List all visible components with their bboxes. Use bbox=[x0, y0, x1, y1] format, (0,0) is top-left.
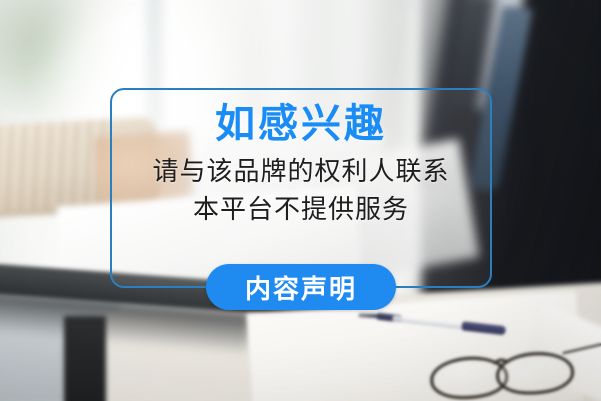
notice-card-content: 如感兴趣 请与该品牌的权利人联系 本平台不提供服务 bbox=[112, 90, 490, 286]
notice-headline: 如感兴趣 bbox=[215, 102, 387, 147]
eyeglasses-right-lens bbox=[495, 350, 576, 397]
screenshot-root: 如感兴趣 请与该品牌的权利人联系 本平台不提供服务 内容声明 bbox=[0, 0, 601, 401]
desk-leg bbox=[64, 316, 106, 401]
notice-card: 如感兴趣 请与该品牌的权利人联系 本平台不提供服务 内容声明 bbox=[110, 88, 492, 288]
notice-line-2: 本平台不提供服务 bbox=[193, 191, 409, 228]
content-statement-button[interactable]: 内容声明 bbox=[206, 264, 396, 310]
notice-line-1: 请与该品牌的权利人联系 bbox=[152, 153, 449, 190]
cta-container: 内容声明 bbox=[112, 264, 490, 310]
